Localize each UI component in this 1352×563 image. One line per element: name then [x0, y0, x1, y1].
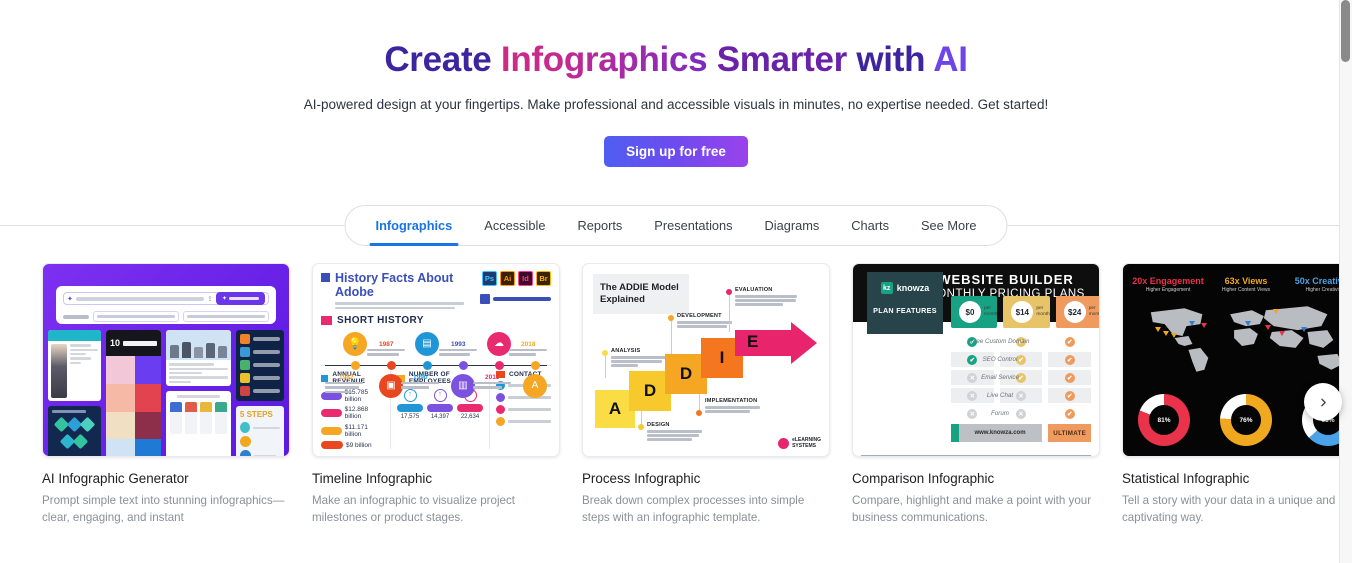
avatar — [206, 343, 215, 358]
signup-button[interactable]: Sign up for free — [604, 136, 748, 167]
text-line — [509, 349, 547, 351]
generate-with-ai-button[interactable]: ✦ — [216, 292, 265, 305]
persona-column — [215, 402, 227, 434]
grid-column-1 — [48, 330, 101, 457]
timeline-year-2011: 2011 — [485, 374, 499, 381]
arrow-body — [735, 330, 793, 356]
revenue-value: $12.868 billion — [345, 406, 384, 420]
text-line — [677, 321, 732, 323]
persona-body — [215, 412, 227, 434]
feature-row: Live Chat ✕ ✕ ✔ — [951, 388, 1091, 403]
footer-divider — [861, 455, 1091, 456]
mini-body — [166, 360, 231, 386]
band-image — [106, 439, 135, 457]
pricing-body: $0 permonth $14 permonth $24 permonth — [853, 322, 1099, 449]
mini-infographic-document — [166, 330, 231, 386]
hexagon-shape — [80, 417, 96, 433]
employee-value: 22,634 — [457, 414, 483, 420]
text-line — [401, 386, 429, 388]
map-pin — [1163, 336, 1171, 347]
chevron-right-icon — [1317, 396, 1330, 409]
tab-charts[interactable]: Charts — [835, 206, 905, 245]
plan-price: $0 — [959, 301, 981, 323]
text-line — [70, 357, 91, 359]
tab-diagrams[interactable]: Diagrams — [749, 206, 836, 245]
sparkle-icon: ✦ — [67, 295, 73, 303]
timeline-text-1982 — [325, 382, 369, 395]
year-pill — [321, 409, 342, 417]
text-line — [735, 299, 796, 301]
mini-header: 10 — [106, 330, 161, 356]
card-process-infographic[interactable]: The ADDIE Model Explained ANALYSIS DESIG… — [582, 263, 830, 526]
mini-body — [48, 341, 101, 401]
tab-infographics[interactable]: Infographics — [360, 206, 469, 245]
stat-value: 20x Engagement — [1129, 276, 1207, 286]
map-pin — [1155, 332, 1163, 343]
website-url: www.knowza.com — [959, 424, 1041, 442]
employee-year-pill — [427, 404, 453, 412]
revenue-row: $12.868 billion — [321, 406, 384, 420]
timeline-icon-1987: 💡 — [343, 332, 367, 356]
feature-cell: ✔ — [1048, 388, 1091, 403]
text-line — [401, 382, 439, 384]
text-line — [169, 381, 191, 383]
plan-header-basic: $14 permonth — [1003, 296, 1049, 328]
revenue-value: $11.171 billion — [345, 424, 384, 438]
accent-square — [321, 316, 332, 325]
mini-infographic-leadership: 10 — [106, 330, 161, 457]
timeline-node — [459, 361, 468, 370]
arrow-up-icon: ↑ — [434, 389, 447, 402]
donut-views: 76% — [1220, 394, 1272, 446]
plan-headers: $0 permonth $14 permonth $24 permonth — [951, 296, 1091, 328]
connector-line — [729, 294, 730, 332]
try-these-label — [63, 315, 89, 319]
timeline-year-1993: 1993 — [451, 341, 465, 348]
tab-presentations[interactable]: Presentations — [638, 206, 748, 245]
note-design: DESIGN — [647, 422, 705, 442]
carousel-track: ✦ ⇪ ✦ — [42, 263, 1352, 526]
map-pin — [1201, 328, 1209, 339]
brand-name: knowza — [897, 283, 930, 293]
step-row — [240, 422, 280, 433]
knowza-logo: kz knowza — [881, 282, 930, 294]
timeline-text-2018 — [509, 349, 553, 358]
indesign-icon: Id — [518, 271, 533, 286]
adobe-app-icons: Ps Ai Id Br — [482, 271, 551, 286]
timeline-brand — [480, 294, 551, 304]
addie-title: The ADDIE Model Explained — [593, 274, 689, 314]
photoshop-icon: Ps — [482, 271, 497, 286]
persona-body — [200, 412, 212, 434]
connector-line — [605, 356, 606, 378]
mini-infographic-5steps: 5 STEPS — [236, 406, 284, 457]
text-line — [253, 350, 280, 354]
suggestion-chip-2[interactable] — [183, 311, 269, 322]
timeline-node — [387, 361, 396, 370]
pin-tip — [1273, 309, 1279, 331]
persona-column — [185, 402, 197, 434]
world-map — [1123, 300, 1352, 378]
feature-cell: ✔ — [1048, 352, 1091, 367]
card-description: Make an infographic to visualize project… — [312, 492, 560, 526]
impact-row — [240, 347, 280, 357]
card-title: AI Infographic Generator — [42, 471, 290, 486]
persona-body — [185, 412, 197, 434]
headline-part-smarter: Smarter — [707, 40, 847, 79]
card-ai-infographic-generator[interactable]: ✦ ⇪ ✦ — [42, 263, 290, 526]
step-dot-implementation — [696, 410, 702, 416]
map-pin — [1273, 314, 1281, 325]
card-timeline-infographic[interactable]: History Facts About Adobe Ps Ai Id — [312, 263, 560, 526]
map-pin — [1245, 326, 1253, 337]
map-pin — [1265, 330, 1273, 341]
mail-icon — [496, 393, 505, 402]
map-pin — [1279, 336, 1287, 347]
impact-row — [240, 360, 280, 370]
check-icon: ✔ — [1065, 409, 1075, 419]
feature-cell: ✔ — [1048, 334, 1091, 349]
stat-value: 63x Views — [1207, 276, 1285, 286]
template-carousel: ✦ ⇪ ✦ — [0, 263, 1352, 553]
stat-label: Higher Content Views — [1207, 287, 1285, 293]
feature-row: Free Custom Domain ✔ ✔ ✔ — [951, 334, 1091, 349]
note-analysis: ANALYSIS — [611, 348, 669, 368]
revenue-row: $9 billion — [321, 441, 384, 449]
text-line — [169, 372, 202, 374]
ai-prompt-input[interactable]: ✦ ⇪ ✦ — [63, 292, 269, 305]
category-tabbar: Infographics Accessible Reports Presenta… — [0, 205, 1352, 247]
leadership-title-line — [123, 341, 157, 346]
hero-subheadline: AI-powered design at your fingertips. Ma… — [0, 97, 1352, 112]
ai-prompt-panel: ✦ ⇪ ✦ — [56, 286, 276, 324]
employee-value: 17,575 — [397, 414, 423, 420]
text-line — [611, 360, 662, 362]
plan-footer: www.knowza.com FREE BASIC ULTIMATE — [951, 424, 1091, 442]
timeline-year-1990: 1990 — [413, 374, 427, 381]
plan-header-ultimate: $24 permonth — [1056, 296, 1100, 328]
stat-label: Higher Engagement — [1129, 287, 1207, 293]
card-title: Timeline Infographic — [312, 471, 560, 486]
thumbnail-comparison[interactable]: WEBSITE BUILDER MONTHLY PRICING PLANS kz… — [852, 263, 1100, 457]
timeline-text-1993 — [439, 349, 483, 358]
short-history-header: SHORT HISTORY — [321, 315, 551, 326]
hexagon-row — [52, 436, 97, 447]
feature-label: Forum — [959, 410, 1041, 417]
generate-label-line — [229, 297, 259, 300]
timeline-footer: ANNUAL REVENUE $15.785 billion $12.868 b… — [321, 365, 551, 449]
persona-header — [185, 402, 197, 412]
avatar — [218, 346, 227, 358]
feature-label: SEO Control — [959, 356, 1041, 363]
timeline-year-1982: 1982 — [339, 374, 353, 381]
text-line — [705, 410, 750, 412]
text-line — [177, 395, 220, 397]
grid-column-3 — [166, 330, 231, 457]
employee-value: 14,397 — [427, 414, 453, 420]
persona-column — [200, 402, 212, 434]
phone-icon — [496, 405, 505, 414]
donut-value: 76% — [1231, 405, 1261, 435]
band-text — [135, 439, 161, 457]
step-dot-analysis — [602, 350, 608, 356]
per-month-label: permonth — [1089, 306, 1100, 318]
step-dot-evaluation — [726, 289, 732, 295]
grid-column-4: 5 STEPS — [236, 330, 284, 457]
text-line — [677, 325, 727, 327]
plan-price: $24 — [1064, 301, 1086, 323]
impact-row — [240, 334, 280, 344]
pin-tip — [1171, 333, 1177, 355]
timeline-icon-2011: ▥ — [451, 374, 475, 398]
band-text — [135, 356, 161, 384]
feature-label: Email Service — [959, 374, 1041, 381]
brand-name-line — [493, 297, 551, 301]
mini-header — [166, 330, 231, 360]
timeline-icon-1990: ▣ — [379, 374, 403, 398]
step-dot-development — [668, 315, 674, 321]
text-line — [367, 349, 405, 351]
leadership-band — [106, 412, 161, 440]
employee-column: ↑ 17,575 — [397, 389, 423, 420]
arrow-up-icon: ↑ — [404, 389, 417, 402]
feature-row: Email Service ✕ ✔ ✔ — [951, 370, 1091, 385]
hero-section: Create Infographics Smarter with AI AI-p… — [0, 0, 1352, 167]
text-line — [508, 420, 551, 422]
stat-views: 63x Views Higher Content Views — [1207, 276, 1285, 293]
ai-results-grid: 10 — [48, 330, 284, 456]
per-month-label: permonth — [984, 306, 997, 318]
timeline-text-1990 — [401, 382, 445, 391]
arrow-head — [791, 322, 817, 364]
timeline-text-1987 — [367, 349, 411, 358]
timeline-node — [423, 361, 432, 370]
impact-row — [240, 386, 280, 396]
text-line — [508, 408, 551, 410]
check-icon: ✔ — [1065, 391, 1075, 401]
step-icon — [240, 386, 250, 396]
leadership-count: 10 — [110, 338, 120, 348]
text-line — [253, 427, 280, 429]
accent-square — [321, 375, 328, 382]
feature-row: SEO Control ✔ ✔ ✔ — [951, 352, 1091, 367]
logo-mark-icon — [778, 438, 789, 449]
brand-mark-icon: kz — [881, 282, 893, 294]
persona-header — [215, 402, 227, 412]
tab-see-more[interactable]: See More — [905, 206, 992, 245]
band-image — [106, 412, 135, 440]
card-title: Process Infographic — [582, 471, 830, 486]
text-line — [735, 303, 783, 305]
page-root: Create Infographics Smarter with AI AI-p… — [0, 0, 1352, 563]
text-line — [169, 368, 228, 370]
text-line — [647, 434, 699, 436]
plan-price: $14 — [1011, 301, 1033, 323]
pin-tip — [1201, 323, 1207, 345]
chip-line — [97, 315, 175, 318]
plan-header-free: $0 permonth — [951, 296, 997, 328]
year-pill — [321, 427, 342, 435]
connector-line — [671, 320, 672, 354]
check-icon: ✔ — [1065, 355, 1075, 365]
attach-icon: ⇪ — [207, 295, 213, 303]
text-line — [254, 455, 276, 457]
page-scrollbar-thumb[interactable] — [1341, 0, 1350, 62]
feature-cell: ✔ — [1048, 370, 1091, 385]
pin-tip — [1163, 331, 1169, 353]
page-scrollbar-track[interactable] — [1339, 0, 1352, 563]
pin-tip — [1301, 327, 1307, 349]
stat-engagement: 20x Engagement Higher Engagement — [1129, 276, 1207, 293]
text-line — [325, 391, 352, 393]
addie-step-e: E — [747, 332, 758, 352]
logo-line-2: SYSTEMS — [792, 443, 816, 449]
mini-infographic-personas — [166, 391, 231, 457]
card-title: Comparison Infographic — [852, 471, 1100, 486]
text-line — [325, 386, 359, 388]
card-comparison-infographic[interactable]: WEBSITE BUILDER MONTHLY PRICING PLANS kz… — [852, 263, 1100, 526]
thumbnail-process[interactable]: The ADDIE Model Explained ANALYSIS DESIG… — [582, 263, 830, 457]
persona-body — [170, 412, 182, 434]
note-heading: ANALYSIS — [611, 348, 669, 354]
text-line — [70, 349, 98, 351]
person-illustration — [51, 344, 67, 398]
text-line — [439, 353, 470, 355]
note-heading: DESIGN — [647, 422, 705, 428]
step-icon — [240, 422, 250, 433]
text-line — [473, 386, 502, 388]
text-line — [611, 356, 666, 358]
text-line — [611, 364, 638, 366]
text-line — [70, 362, 81, 364]
text-line — [439, 349, 477, 351]
ai-prompt-placeholder-line — [76, 297, 204, 301]
map-pin — [1189, 326, 1197, 337]
text-line — [52, 410, 86, 412]
chip-line — [187, 315, 265, 318]
accent-square — [321, 273, 330, 282]
tabbar-pill: Infographics Accessible Reports Presenta… — [345, 205, 1008, 246]
carousel-next-button[interactable] — [1304, 383, 1342, 421]
band-image — [106, 384, 135, 412]
check-icon: ✔ — [1065, 337, 1075, 347]
pin-tip — [1155, 327, 1161, 349]
text-line — [367, 353, 399, 355]
timeline-year-1987: 1987 — [379, 341, 393, 348]
feature-label: Free Custom Domain — [959, 338, 1041, 345]
hexagon-row — [52, 419, 97, 430]
step-icon — [240, 450, 251, 457]
persona-header — [200, 402, 212, 412]
timeline-header: History Facts About Adobe Ps Ai Id — [321, 271, 551, 309]
plan-name-ultimate: ULTIMATE — [1048, 424, 1091, 442]
note-evaluation: EVALUATION — [735, 287, 801, 307]
impact-row — [240, 373, 280, 383]
timeline-year-2018: 2018 — [521, 341, 535, 348]
revenue-row: $11.171 billion — [321, 424, 384, 438]
headline-part-with: with — [847, 40, 933, 79]
brand-mark-icon — [480, 294, 490, 304]
bridge-icon: Br — [536, 271, 551, 286]
contact-row — [496, 405, 551, 414]
text-line — [325, 382, 363, 384]
timeline-subtitle — [335, 302, 475, 309]
pin-tip — [1189, 321, 1195, 343]
timeline-text-2011 — [473, 382, 517, 391]
feature-label: Live Chat — [959, 392, 1041, 399]
leadership-band — [106, 356, 161, 384]
avatar — [182, 342, 191, 358]
note-development: DEVELOPMENT — [677, 313, 735, 329]
elearning-logo: eLEARNING SYSTEMS — [778, 437, 821, 449]
tab-reports[interactable]: Reports — [561, 206, 638, 245]
thumbnail-timeline[interactable]: History Facts About Adobe Ps Ai Id — [312, 263, 560, 457]
timeline-node — [495, 361, 504, 370]
revenue-value: $9 billion — [346, 442, 372, 449]
timeline-node — [351, 361, 360, 370]
text-line — [335, 302, 464, 304]
note-implementation: IMPLEMENTATION — [705, 398, 763, 414]
logo-text: eLEARNING SYSTEMS — [792, 437, 821, 449]
suggestion-chip-1[interactable] — [93, 311, 179, 322]
thumbnail-statistical[interactable]: 20x Engagement Higher Engagement 63x Vie… — [1122, 263, 1352, 457]
persona-columns — [170, 402, 227, 434]
card-title: Statistical Infographic — [1122, 471, 1352, 486]
timeline-node — [531, 361, 540, 370]
avatar — [194, 347, 203, 358]
text-line — [473, 382, 511, 384]
persona-header — [170, 402, 182, 412]
donut-value: 81% — [1149, 405, 1179, 435]
text-line — [70, 344, 91, 346]
contact-row — [496, 417, 551, 426]
text-line — [70, 353, 86, 355]
five-steps-title: 5 STEPS — [240, 410, 280, 419]
illustrator-icon: Ai — [500, 271, 515, 286]
timeline-icon-2018: A — [523, 374, 547, 398]
persona-column — [170, 402, 182, 434]
hexagon-shape — [73, 434, 89, 450]
text-line — [735, 295, 797, 297]
step-icon — [240, 436, 251, 447]
text-line — [253, 337, 280, 341]
band-text — [135, 412, 161, 440]
tab-accessible[interactable]: Accessible — [468, 206, 561, 245]
timeline-icon-1993: ▤ — [415, 332, 439, 356]
employee-column: ↑ 14,397 — [427, 389, 453, 420]
step-icon — [240, 373, 250, 383]
cta-container: Sign up for free — [0, 136, 1352, 167]
timeline-title: History Facts About Adobe — [335, 271, 475, 299]
band-image — [106, 356, 135, 384]
check-icon: ✔ — [1065, 373, 1075, 383]
plan-features-label: PLAN FEATURES — [873, 306, 937, 315]
pin-tip — [1245, 321, 1251, 343]
step-icon — [240, 347, 250, 357]
text-line — [647, 430, 702, 432]
timeline-track: 💡 1982 ▣ 1987 — [321, 330, 551, 360]
thumbnail-ai-generator[interactable]: ✦ ⇪ ✦ — [42, 263, 290, 457]
headline-part-ai: AI — [933, 40, 967, 79]
note-heading: IMPLEMENTATION — [705, 398, 763, 404]
avatar — [170, 345, 179, 358]
mini-header — [48, 330, 101, 341]
stats-row: 20x Engagement Higher Engagement 63x Vie… — [1123, 264, 1352, 293]
headline-part-infographics: Infographics — [501, 40, 707, 79]
mini-infographic-hexagons — [48, 406, 101, 457]
donut-engagement: 81% — [1138, 394, 1190, 446]
pin-tip — [1279, 331, 1285, 353]
